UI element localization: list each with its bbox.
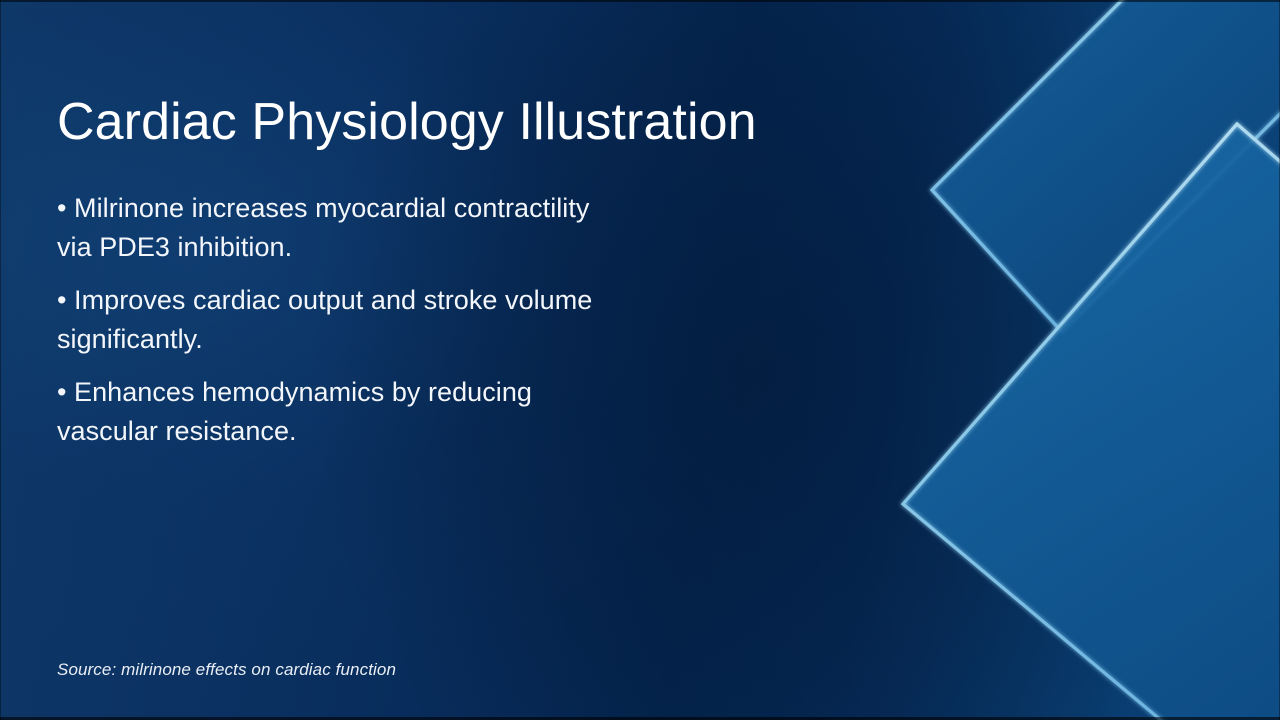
bullet-item: • Enhances hemodynamics by reducing vasc… — [57, 373, 617, 451]
slide-border-left — [0, 0, 1, 720]
source-caption: Source: milrinone effects on cardiac fun… — [57, 658, 396, 682]
bullet-item: • Milrinone increases myocardial contrac… — [57, 189, 617, 267]
bullet-item: • Improves cardiac output and stroke vol… — [57, 281, 617, 359]
presentation-slide: Cardiac Physiology Illustration • Milrin… — [0, 0, 1280, 720]
bullet-list: • Milrinone increases myocardial contrac… — [57, 189, 617, 451]
slide-content: Cardiac Physiology Illustration • Milrin… — [0, 0, 1280, 720]
slide-title: Cardiac Physiology Illustration — [57, 91, 917, 153]
slide-border-top — [0, 0, 1280, 2]
